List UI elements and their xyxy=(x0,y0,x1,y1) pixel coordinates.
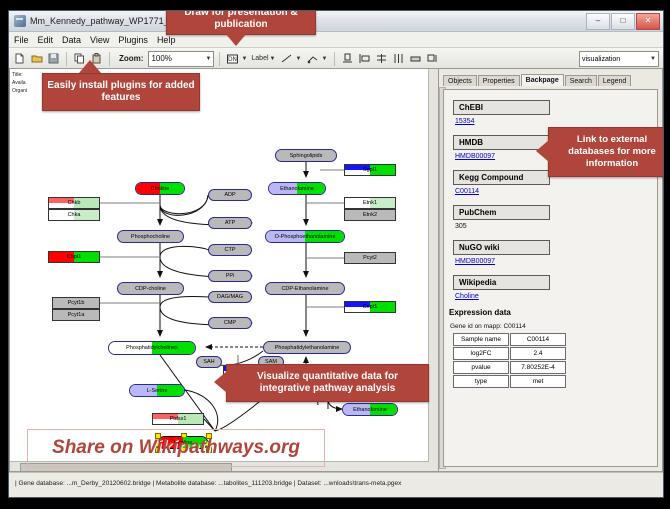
gene-node[interactable]: Chkb xyxy=(48,197,100,209)
new-icon[interactable] xyxy=(12,51,27,66)
window-controls: – □ ✕ xyxy=(586,13,660,30)
node-label: Choline xyxy=(151,186,170,192)
tab-legend[interactable]: Legend xyxy=(598,75,631,86)
maximize-button[interactable]: □ xyxy=(611,13,635,30)
open-icon[interactable] xyxy=(29,51,44,66)
node-label: CMP xyxy=(224,320,236,326)
metabolite-node[interactable]: Phosphocholine xyxy=(117,230,184,243)
expression-data-heading: Expression data xyxy=(449,308,657,317)
toolbar-separator xyxy=(219,52,220,66)
save-icon[interactable] xyxy=(46,51,61,66)
gene-node[interactable]: Pcyt1a xyxy=(52,309,100,321)
database-block: NuGO wikiHMDB00097 xyxy=(453,237,657,265)
node-label: SAH xyxy=(203,359,214,365)
node-label: O-Phosphoethanolamine xyxy=(275,234,336,240)
side-panel-tabs: Objects Properties Backpage Search Legen… xyxy=(439,72,662,86)
node-label: ATP xyxy=(225,220,235,226)
database-name: Wikipedia xyxy=(453,275,550,290)
table-cell-key: Sample name xyxy=(453,333,509,346)
minimize-button[interactable]: – xyxy=(586,13,610,30)
gene-node[interactable]: Chpt1 xyxy=(48,251,100,263)
pathway-canvas[interactable]: Title: Availa Organi xyxy=(9,68,439,472)
annotation-draw-arrow xyxy=(225,33,247,46)
annotation-visualize-arrow xyxy=(214,371,227,393)
metabolite-node[interactable]: L-Serine xyxy=(129,384,185,397)
tab-properties[interactable]: Properties xyxy=(478,75,520,86)
menu-item-edit[interactable]: Edit xyxy=(38,35,54,45)
metabolite-node[interactable]: SAH xyxy=(196,356,222,368)
menu-bar: File Edit Data View Plugins Help xyxy=(9,32,663,48)
metabolite-node[interactable]: Choline xyxy=(135,182,185,195)
annotation-plugins-arrow xyxy=(79,60,101,73)
annotation-plugins: Easily install plugins for added feature… xyxy=(42,73,200,111)
annotation-links-arrow xyxy=(536,140,549,162)
stack-icon[interactable] xyxy=(374,51,389,66)
annotation-visualize: Visualize quantitative data for integrat… xyxy=(226,364,429,402)
datanode-icon[interactable]: DN xyxy=(225,51,240,66)
node-label: ADP xyxy=(224,192,235,198)
table-cell-value: C00114 xyxy=(510,333,566,346)
annotation-share: Share on Wikipathways.org xyxy=(27,429,325,467)
interaction-icon[interactable] xyxy=(305,51,320,66)
metabolite-node[interactable]: PPi xyxy=(208,270,252,282)
table-cell-key: type xyxy=(453,375,509,388)
toolbar-separator xyxy=(334,52,335,66)
menu-item-view[interactable]: View xyxy=(90,35,109,45)
label-tool-label[interactable]: Label xyxy=(251,55,268,62)
app-icon xyxy=(14,15,26,27)
metabolite-node[interactable]: ATP xyxy=(208,217,252,229)
gene-node[interactable]: Chka xyxy=(48,209,100,221)
node-label: Chka xyxy=(68,212,81,218)
database-value: 305 xyxy=(455,223,657,230)
metabolite-node[interactable]: Phosphatidylethanolamine xyxy=(263,341,351,354)
metabolite-node[interactable]: Phosphatidylcholines xyxy=(108,341,196,355)
node-label: Etnk1 xyxy=(363,200,377,206)
gene-node[interactable]: Pcyt2 xyxy=(344,252,396,264)
table-cell-value: met xyxy=(510,375,566,388)
node-label: Chpt1 xyxy=(67,254,82,260)
toolbar-separator xyxy=(66,52,67,66)
node-label: Ptdss1 xyxy=(170,416,187,422)
close-button[interactable]: ✕ xyxy=(636,13,660,30)
database-name: Kegg Compound xyxy=(453,170,550,185)
node-label: L-Serine xyxy=(147,388,168,394)
chevron-down-icon[interactable]: ▼ xyxy=(321,56,327,62)
table-row: log2FC2.4 xyxy=(453,347,566,360)
metabolite-node[interactable]: Sphingolipids xyxy=(275,149,337,162)
canvas-vscrollbar[interactable] xyxy=(428,69,438,462)
menu-item-help[interactable]: Help xyxy=(157,35,176,45)
zoom-combo[interactable]: 100% ▼ xyxy=(148,51,214,67)
pathvisio-window: Mm_Kennedy_pathway_WP1771_45176.gpml – □… xyxy=(8,10,664,498)
node-label: DAG/MAG xyxy=(217,294,243,300)
menu-item-plugins[interactable]: Plugins xyxy=(118,35,148,45)
node-label: CDP-Ethanolamine xyxy=(281,286,328,292)
database-link[interactable]: Choline xyxy=(455,293,657,300)
database-link[interactable]: 15354 xyxy=(455,118,657,125)
node-label: PPi xyxy=(226,273,235,279)
node-label: Cept1 xyxy=(363,304,378,310)
visualization-combo[interactable]: visualization ▼ xyxy=(579,51,659,67)
gene-node[interactable]: Cept1 xyxy=(344,301,396,313)
gene-id-line: Gene id on mapp: C00114 xyxy=(450,323,657,330)
database-block: ChEBI15354 xyxy=(453,97,657,125)
database-block: WikipediaCholine xyxy=(453,272,657,300)
tab-backpage[interactable]: Backpage xyxy=(521,74,564,86)
distribute-icon[interactable] xyxy=(391,51,406,66)
tab-search[interactable]: Search xyxy=(565,75,597,86)
node-label: CTP xyxy=(225,247,236,253)
metabolite-node[interactable]: ADP xyxy=(208,189,252,201)
node-label: Ethanolamine xyxy=(280,186,314,192)
database-block: PubChem305 xyxy=(453,202,657,230)
svg-text:DN: DN xyxy=(228,56,237,63)
chevron-down-icon: ▼ xyxy=(650,56,656,62)
database-name: ChEBI xyxy=(453,100,550,115)
toolbar: Zoom: 100% ▼ DN ▼ Label ▼ ▼ ▼ xyxy=(9,48,663,70)
node-label: Phosphocholine xyxy=(131,234,170,240)
table-row: typemet xyxy=(453,375,566,388)
order-icon[interactable] xyxy=(425,51,440,66)
group-icon[interactable] xyxy=(408,51,423,66)
tab-objects[interactable]: Objects xyxy=(443,75,477,86)
metabolite-node[interactable]: CDP-choline xyxy=(117,282,184,295)
menu-item-file[interactable]: File xyxy=(14,35,29,45)
annotation-draw: Draw for presentation & publication xyxy=(166,10,316,35)
node-label: Etnk2 xyxy=(363,212,377,218)
gene-node[interactable]: Pcyt1b xyxy=(52,297,100,309)
metabolite-node[interactable]: CTP xyxy=(208,244,252,256)
status-text: | Gene database: ...m_Derby_20120602.bri… xyxy=(9,473,663,487)
node-label: Pcyt2 xyxy=(363,255,377,261)
metabolite-node[interactable]: CDP-Ethanolamine xyxy=(265,282,345,295)
chevron-down-icon: ▼ xyxy=(205,56,211,62)
annotation-links: Link to external databases for more info… xyxy=(548,127,664,177)
align-left-icon[interactable] xyxy=(357,51,372,66)
node-label: Phosphatidylethanolamine xyxy=(275,345,340,351)
node-label: Pcyt1b xyxy=(68,300,85,306)
status-bar: | Gene database: ...m_Derby_20120602.bri… xyxy=(9,472,663,497)
chevron-down-icon[interactable]: ▼ xyxy=(241,56,247,62)
menu-item-data[interactable]: Data xyxy=(62,35,81,45)
zoom-value: 100% xyxy=(151,54,171,63)
node-label: Phosphatidylcholines xyxy=(126,345,178,351)
gene-node[interactable]: Sgpl1 xyxy=(344,164,396,176)
metabolite-node[interactable]: DAG/MAG xyxy=(208,291,252,303)
line-icon[interactable] xyxy=(279,51,294,66)
visualization-value: visualization xyxy=(582,56,620,63)
zoom-label: Zoom: xyxy=(119,54,143,63)
metabolite-node[interactable]: Ethanolamine xyxy=(342,403,398,416)
node-label: Sgpl1 xyxy=(363,167,377,173)
database-name: PubChem xyxy=(453,205,550,220)
table-cell-value: 7.80252E-4 xyxy=(510,361,566,374)
chevron-down-icon[interactable]: ▼ xyxy=(295,56,301,62)
node-label: Ethanolamine xyxy=(353,407,387,413)
expression-table: Sample nameC00114log2FC2.4pvalue7.80252E… xyxy=(452,332,567,389)
node-label: Chkb xyxy=(68,200,81,206)
database-link[interactable]: HMDB00097 xyxy=(455,258,657,265)
database-link[interactable]: C00114 xyxy=(455,188,657,195)
gene-node[interactable]: Etnk1 xyxy=(344,197,396,209)
table-cell-key: log2FC xyxy=(453,347,509,360)
align-bottom-icon[interactable] xyxy=(340,51,355,66)
metabolite-node[interactable]: Ethanolamine xyxy=(268,182,326,195)
node-label: Pcyt1a xyxy=(68,312,85,318)
node-label: CDP-choline xyxy=(135,286,166,292)
table-cell-value: 2.4 xyxy=(510,347,566,360)
title-bar: Mm_Kennedy_pathway_WP1771_45176.gpml – □… xyxy=(9,11,663,32)
database-name: NuGO wiki xyxy=(453,240,550,255)
table-cell-key: pvalue xyxy=(453,361,509,374)
gene-node[interactable]: Ptdss1 xyxy=(152,413,204,425)
toolbar-separator xyxy=(109,52,110,66)
node-label: Sphingolipids xyxy=(290,153,323,159)
metabolite-node[interactable]: O-Phosphoethanolamine xyxy=(265,230,345,243)
metabolite-node[interactable]: CMP xyxy=(208,317,252,329)
table-row: Sample nameC00114 xyxy=(453,333,566,346)
table-row: pvalue7.80252E-4 xyxy=(453,361,566,374)
chevron-down-icon[interactable]: ▼ xyxy=(270,56,276,62)
gene-node[interactable]: Etnk2 xyxy=(344,209,396,221)
